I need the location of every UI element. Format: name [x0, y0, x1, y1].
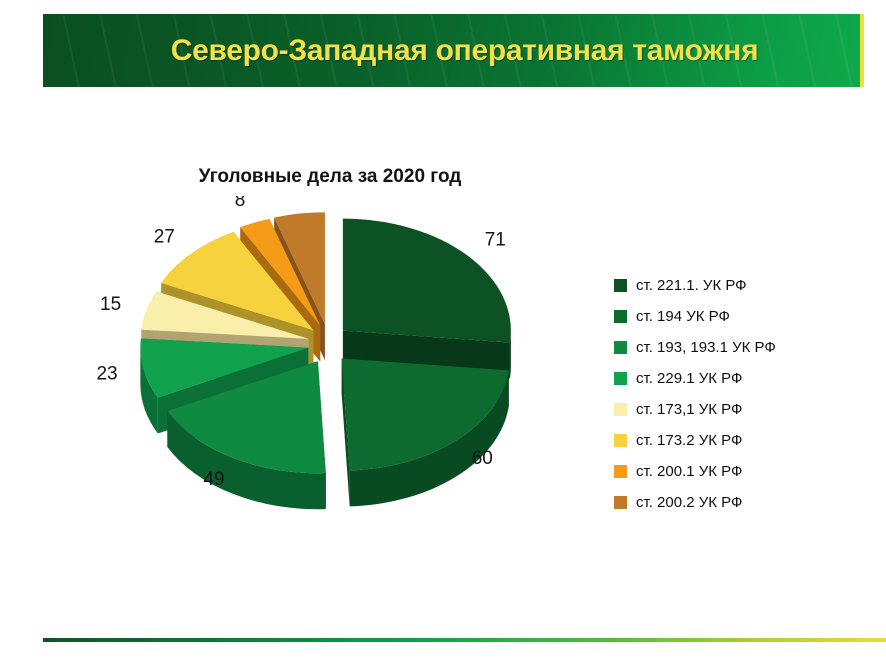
legend-color-swatch [614, 279, 627, 292]
pie-data-label: 15 [100, 294, 121, 315]
legend-color-swatch [614, 496, 627, 509]
pie-slice[interactable] [342, 359, 509, 507]
legend-item-label: ст. 173.2 УК РФ [636, 432, 742, 449]
legend-item[interactable]: ст. 193, 193.1 УК РФ [614, 332, 844, 363]
legend-color-swatch [614, 372, 627, 385]
legend-color-swatch [614, 310, 627, 323]
legend-item-label: ст. 173,1 УК РФ [636, 401, 742, 418]
legend-item-label: ст. 193, 193.1 УК РФ [636, 339, 776, 356]
pie-chart: 716049231527813 [60, 196, 580, 526]
pie-data-label: 71 [485, 229, 506, 250]
pie-data-label: 60 [472, 448, 493, 469]
pie-data-label: 13 [283, 196, 304, 200]
legend-item-label: ст. 221.1. УК РФ [636, 277, 747, 294]
pie-data-label: 27 [154, 227, 175, 248]
legend-color-swatch [614, 465, 627, 478]
legend-item-label: ст. 200.1 УК РФ [636, 463, 742, 480]
legend-item[interactable]: ст. 200.1 УК РФ [614, 456, 844, 487]
pie-data-label: 23 [96, 363, 117, 384]
legend-item[interactable]: ст. 194 УК РФ [614, 301, 844, 332]
legend-item[interactable]: ст. 221.1. УК РФ [614, 270, 844, 301]
header-accent-edge [860, 14, 864, 87]
footer-divider [43, 638, 886, 642]
legend-item[interactable]: ст. 173,1 УК РФ [614, 394, 844, 425]
chart-legend: ст. 221.1. УК РФст. 194 УК РФст. 193, 19… [614, 270, 844, 518]
pie-data-label: 8 [235, 196, 246, 211]
legend-color-swatch [614, 403, 627, 416]
legend-item-label: ст. 229.1 УК РФ [636, 370, 742, 387]
legend-item[interactable]: ст. 229.1 УК РФ [614, 363, 844, 394]
pie-data-label: 49 [203, 469, 224, 490]
page-title: Северо-Западная оперативная таможня [43, 14, 864, 87]
legend-item-label: ст. 194 УК РФ [636, 308, 730, 325]
header-banner: Северо-Западная оперативная таможня [43, 14, 864, 87]
legend-color-swatch [614, 434, 627, 447]
legend-item-label: ст. 200.2 УК РФ [636, 494, 742, 511]
legend-color-swatch [614, 341, 627, 354]
pie-slice-group [140, 212, 511, 509]
chart-title: Уголовные дела за 2020 год [0, 166, 660, 188]
legend-item[interactable]: ст. 173.2 УК РФ [614, 425, 844, 456]
pie-chart-svg: 716049231527813 [60, 196, 580, 526]
legend-item[interactable]: ст. 200.2 УК РФ [614, 487, 844, 518]
